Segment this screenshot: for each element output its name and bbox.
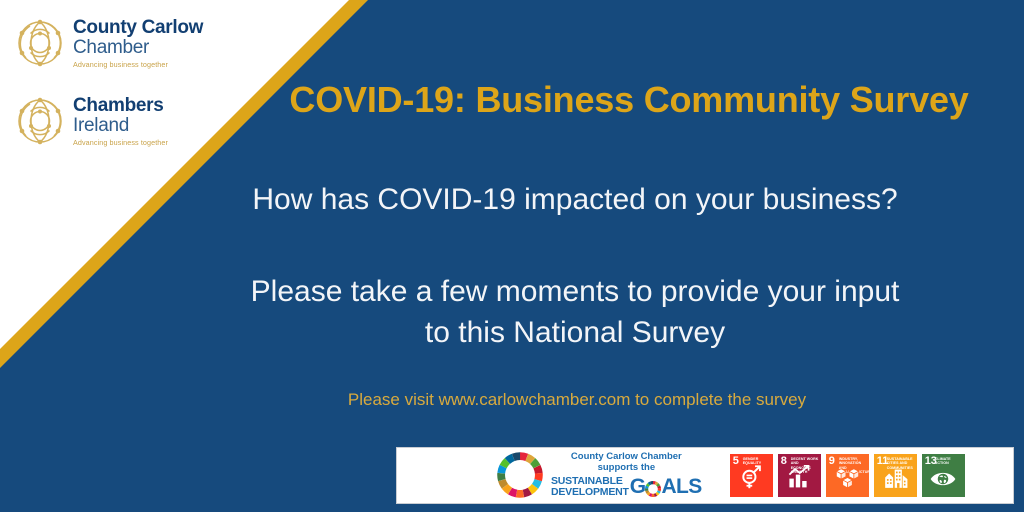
sdg-color-wheel-icon	[497, 452, 543, 498]
sdg-tile-8: 8 Decent Work and Economic Growth	[778, 454, 821, 497]
sdg-goals-suffix: ALS	[661, 475, 701, 499]
industry-cubes-icon	[826, 466, 869, 494]
sdg-color-wheel-icon	[645, 479, 661, 495]
logo-tagline: Advancing business together	[73, 61, 203, 68]
gender-equality-icon	[730, 463, 773, 494]
sdg-support-line-2: supports the	[551, 463, 702, 474]
sdg-tile-5: 5 Gender Equality	[730, 454, 773, 497]
chamber-network-circle-icon	[16, 97, 64, 145]
page-title: COVID-19: Business Community Survey	[250, 79, 1008, 121]
city-buildings-icon	[874, 466, 917, 494]
body-copy: Please take a few moments to provide you…	[180, 272, 970, 354]
logo-county-carlow-chamber: County Carlow Chamber Advancing business…	[16, 18, 246, 68]
chamber-network-circle-icon	[16, 19, 64, 67]
logo-wordmark: County Carlow Chamber Advancing business…	[73, 18, 203, 68]
logo-stack: County Carlow Chamber Advancing business…	[16, 18, 246, 174]
sdg-tile-label: Climate Action	[935, 457, 964, 466]
sdg-development-text: DEVELOPMENT	[551, 487, 629, 498]
logo-line-2: Chamber	[73, 38, 203, 57]
logo-chambers-ireland: Chambers Ireland Advancing business toge…	[16, 96, 246, 146]
logo-line-1: Chambers	[73, 95, 164, 116]
poster-canvas: County Carlow Chamber Advancing business…	[0, 0, 1024, 512]
sdg-support-block: County Carlow Chamber supports the SUSTA…	[497, 452, 702, 499]
body-line-2: to this National Survey	[180, 313, 970, 354]
logo-line-1: County Carlow	[73, 17, 203, 38]
subheading: How has COVID-19 impacted on your busine…	[190, 183, 960, 217]
visit-website-line: Please visit www.carlowchamber.com to co…	[182, 390, 972, 410]
sdg-wordmark: County Carlow Chamber supports the SUSTA…	[551, 452, 702, 499]
sdg-tile-13: 13 Climate Action	[922, 454, 965, 497]
body-line-1: Please take a few moments to provide you…	[180, 272, 970, 313]
sdg-sustainable-development-text: SUSTAINABLE DEVELOPMENT	[551, 476, 629, 497]
sdg-goals-prefix: G	[630, 475, 646, 499]
sdg-goal-tiles: 5 Gender Equality 8 Decent Wor	[730, 454, 965, 497]
sdg-banner: County Carlow Chamber supports the SUSTA…	[396, 447, 1014, 504]
sdg-tile-9: 9 Industry, Innovation and Infrastructur…	[826, 454, 869, 497]
sdg-goals-text: G	[630, 475, 702, 499]
economic-growth-chart-icon	[778, 465, 821, 494]
logo-tagline: Advancing business together	[73, 139, 168, 146]
sdg-goals-lockup: SUSTAINABLE DEVELOPMENT G	[551, 475, 702, 499]
sdg-tile-11: 11 Sustainable Cities and Communities	[874, 454, 917, 497]
logo-line-2: Ireland	[73, 116, 168, 135]
logo-wordmark: Chambers Ireland Advancing business toge…	[73, 96, 168, 146]
climate-eye-globe-icon	[922, 469, 965, 494]
